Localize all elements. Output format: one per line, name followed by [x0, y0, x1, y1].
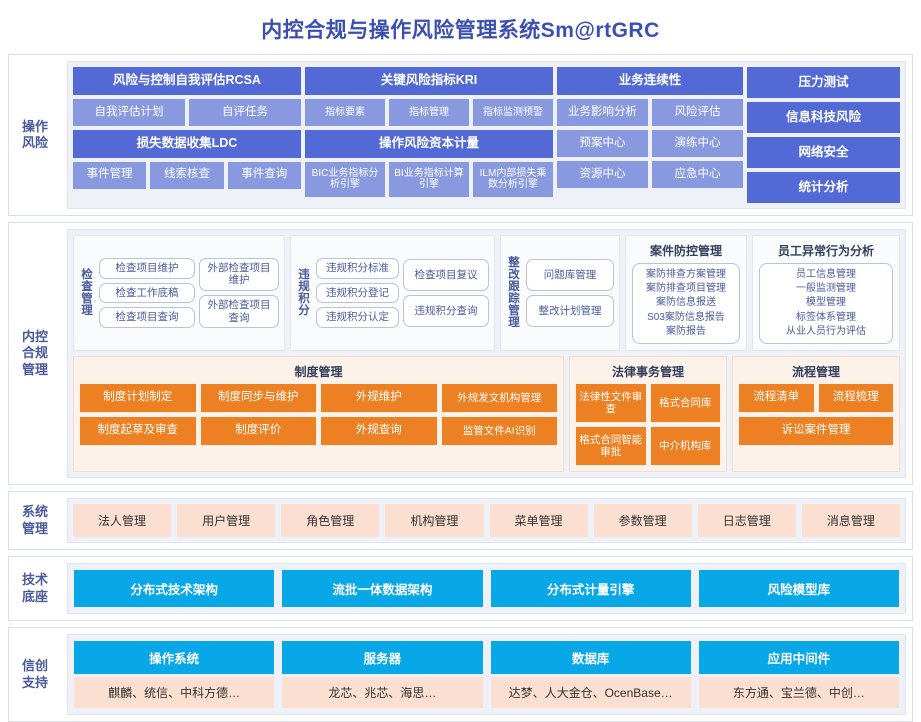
legal-col: 法律性文件审查 格式合同智能审批 — [576, 384, 646, 465]
ops-item[interactable]: 自我评估计划 — [73, 99, 185, 126]
ops-item[interactable]: 指标管理 — [389, 99, 469, 126]
policy-item[interactable]: 外规发文机构管理 — [442, 384, 558, 412]
ic-item[interactable]: 违规积分查询 — [403, 295, 489, 327]
vlabel-rectification: 整改跟踪管理 — [506, 241, 522, 345]
ic-item: 案防信息报送 — [639, 296, 733, 310]
case-prevention-title: 案件防控管理 — [632, 240, 740, 263]
ic-item[interactable]: 整改计划管理 — [526, 295, 614, 327]
ops-item[interactable]: 资源中心 — [557, 161, 648, 188]
legal-item[interactable]: 中介机构库 — [651, 427, 721, 465]
system-item-user[interactable]: 用户管理 — [177, 504, 275, 537]
xinchuang-column-os: 操作系统 麒麟、统信、中科方德… — [74, 641, 274, 708]
xinchuang-column-middleware: 应用中间件 东方通、宝兰德、中创… — [699, 641, 899, 708]
ops-column-kri: 关键风险指标KRI 指标要素 指标管理 指标监测预警 操作风险资本计量 BIC业… — [305, 67, 553, 203]
sys-label-line1: 系统 — [22, 504, 48, 520]
vlabel-inspection: 检查管理 — [79, 241, 95, 345]
band-body-tech-base: 分布式技术架构 流批一体数据架构 分布式计量引擎 风险模型库 — [61, 557, 912, 620]
xinchuang-vendors: 麒麟、统信、中科方德… — [74, 677, 274, 708]
internal-control-top-row: 检查管理 检查项目维护 检查工作底稿 检查项目查询 外部检查项目维护 外部检查项… — [73, 235, 900, 351]
xinchuang-vendors: 东方通、宝兰德、中创… — [699, 677, 899, 708]
block-bcm-header[interactable]: 业务连续性 — [557, 67, 743, 95]
xinchuang-vendors: 达梦、人大金仓、OcenBase… — [491, 677, 691, 708]
ops-column-others: 压力测试 信息科技风险 网络安全 统计分析 — [747, 67, 900, 203]
policy-col: 外规发文机构管理 监管文件AI识别 — [442, 384, 558, 445]
band-label-operational-risk: 操作 风险 — [9, 55, 61, 215]
ops-column-bcm: 业务连续性 业务影响分析 风险评估 预案中心 演练中心 资源中心 应急中心 — [557, 67, 743, 203]
band-operational-risk: 操作 风险 风险与控制自我评估RCSA 自我评估计划 自评任务 损失数据收集LD… — [8, 54, 913, 216]
employee-behavior-list[interactable]: 员工信息管理 一般监测管理 模型管理 标签体系管理 从业人员行为评估 — [759, 263, 893, 344]
ops-item[interactable]: ILM内部损失乘数分析引擎 — [473, 162, 553, 197]
card-employee-behavior: 员工异常行为分析 员工信息管理 一般监测管理 模型管理 标签体系管理 从业人员行… — [752, 235, 900, 351]
legal-affairs-title: 法律事务管理 — [576, 361, 720, 384]
ic-item[interactable]: 违规积分标准 — [316, 258, 399, 279]
ops-item-stress-test[interactable]: 压力测试 — [747, 67, 900, 98]
tech-item-data-architecture[interactable]: 流批一体数据架构 — [282, 570, 482, 607]
process-item[interactable]: 流程梳理 — [819, 384, 894, 412]
ops-item-network-security[interactable]: 网络安全 — [747, 137, 900, 168]
tech-label-line1: 技术 — [22, 572, 48, 588]
xc-label-line2: 支持 — [22, 675, 48, 691]
block-kri-subs: 指标要素 指标管理 指标监测预警 — [305, 99, 553, 126]
policy-col: 制度计划制定 制度起草及审查 — [80, 384, 196, 445]
system-item-organization[interactable]: 机构管理 — [385, 504, 483, 537]
xinchuang-head[interactable]: 应用中间件 — [699, 641, 899, 674]
ops-item-it-risk[interactable]: 信息科技风险 — [747, 102, 900, 133]
card-process-management: 流程管理 流程清单 流程梳理 诉讼案件管理 — [732, 356, 900, 472]
xinchuang-column-database: 数据库 达梦、人大金仓、OcenBase… — [491, 641, 691, 708]
system-item-role[interactable]: 角色管理 — [281, 504, 379, 537]
band-system-management: 系统 管理 法人管理 用户管理 角色管理 机构管理 菜单管理 参数管理 日志管理… — [8, 491, 913, 550]
policy-col: 制度同步与维护 制度评价 — [201, 384, 317, 445]
card-policy-management: 制度管理 制度计划制定 制度起草及审查 制度同步与维护 制度评价 — [73, 356, 564, 472]
process-item[interactable]: 流程清单 — [739, 384, 814, 412]
band-label-tech-base: 技术 底座 — [9, 557, 61, 620]
ic-item: 标签体系管理 — [766, 311, 886, 325]
band-tech-base: 技术 底座 分布式技术架构 流批一体数据架构 分布式计量引擎 风险模型库 — [8, 556, 913, 621]
block-orc-subs: BIC业务指标分析引擎 BI业务指标计算引擎 ILM内部损失乘数分析引擎 — [305, 162, 553, 197]
block-kri-header[interactable]: 关键风险指标KRI — [305, 67, 553, 95]
ic-item: 员工信息管理 — [766, 268, 886, 282]
xinchuang-head[interactable]: 操作系统 — [74, 641, 274, 674]
legal-grid: 法律性文件审查 格式合同智能审批 格式合同库 中介机构库 — [576, 384, 720, 465]
vlabel-violation: 违规积分 — [296, 241, 312, 345]
band-body-system-management: 法人管理 用户管理 角色管理 机构管理 菜单管理 参数管理 日志管理 消息管理 — [61, 492, 912, 549]
ic-item[interactable]: 外部检查项目查询 — [199, 295, 279, 328]
band-xinchuang-support: 信创 支持 操作系统 麒麟、统信、中科方德… 服务器 龙芯、兆芯、海思… 数据库… — [8, 627, 913, 722]
legal-item[interactable]: 格式合同库 — [651, 384, 721, 422]
legal-item[interactable]: 法律性文件审查 — [576, 384, 646, 422]
block-rcsa-subs: 自我评估计划 自评任务 — [73, 99, 301, 126]
ops-item[interactable]: 指标要素 — [305, 99, 385, 126]
policy-grid: 制度计划制定 制度起草及审查 制度同步与维护 制度评价 外规维护 外规查询 — [80, 384, 557, 445]
band-internal-control: 内控 合规 管理 检查管理 检查项目维护 检查工作底稿 检查项目查询 — [8, 222, 913, 485]
ops-column-rcsa: 风险与控制自我评估RCSA 自我评估计划 自评任务 损失数据收集LDC 事件管理… — [73, 67, 301, 203]
system-item-message[interactable]: 消息管理 — [802, 504, 900, 537]
ic-item[interactable]: 违规积分认定 — [316, 307, 399, 328]
ops-item[interactable]: 指标监测预警 — [473, 99, 553, 126]
system-item-legal-entity[interactable]: 法人管理 — [73, 504, 171, 537]
ops-item[interactable]: 业务影响分析 — [557, 99, 648, 126]
process-row-2: 诉讼案件管理 — [739, 417, 893, 445]
policy-item[interactable]: 监管文件AI识别 — [442, 417, 558, 445]
block-bcm-row2: 预案中心 演练中心 — [557, 130, 743, 157]
block-bcm-row1: 业务影响分析 风险评估 — [557, 99, 743, 126]
ops-item[interactable]: 自评任务 — [189, 99, 301, 126]
ops-item[interactable]: 线索核查 — [150, 162, 223, 189]
xinchuang-column-server: 服务器 龙芯、兆芯、海思… — [282, 641, 482, 708]
ic-item[interactable]: 检查项目维护 — [99, 258, 195, 279]
band-label-internal-control: 内控 合规 管理 — [9, 223, 61, 484]
internal-control-bottom-row: 制度管理 制度计划制定 制度起草及审查 制度同步与维护 制度评价 — [73, 356, 900, 472]
block-ldc-subs: 事件管理 线索核查 事件查询 — [73, 162, 301, 189]
ic-item[interactable]: 问题库管理 — [526, 259, 614, 291]
ic-item[interactable]: 违规积分登记 — [316, 283, 399, 304]
tech-label-line2: 底座 — [22, 589, 48, 605]
card-inspection-management: 检查管理 检查项目维护 检查工作底稿 检查项目查询 外部检查项目维护 外部检查项… — [73, 235, 285, 351]
xc-label-line1: 信创 — [22, 658, 48, 674]
sys-label-line2: 管理 — [22, 521, 48, 537]
ops-item[interactable]: BI业务指标计算引擎 — [389, 162, 469, 197]
tech-item-risk-model-library[interactable]: 风险模型库 — [699, 570, 899, 607]
system-item-parameter[interactable]: 参数管理 — [594, 504, 692, 537]
policy-item[interactable]: 制度计划制定 — [80, 384, 196, 412]
policy-management-title: 制度管理 — [80, 361, 557, 384]
ic-item: 从业人员行为评估 — [766, 325, 886, 339]
ops-item[interactable]: 预案中心 — [557, 130, 648, 157]
band-label-system-management: 系统 管理 — [9, 492, 61, 549]
ic-item: 模型管理 — [766, 296, 886, 310]
ic-item: S03案防信息报告 — [639, 311, 733, 325]
ops-item[interactable]: 演练中心 — [652, 130, 743, 157]
legal-item[interactable]: 格式合同智能审批 — [576, 427, 646, 465]
ic-item[interactable]: 外部检查项目维护 — [199, 258, 279, 291]
xinchuang-vendors: 龙芯、兆芯、海思… — [282, 677, 482, 708]
policy-item[interactable]: 制度起草及审查 — [80, 417, 196, 445]
ops-item[interactable]: BIC业务指标分析引擎 — [305, 162, 385, 197]
card-violation-points: 违规积分 违规积分标准 违规积分登记 违规积分认定 检查项目复议 违规积分查询 — [290, 235, 495, 351]
block-ldc-header[interactable]: 损失数据收集LDC — [73, 130, 301, 158]
xinchuang-head[interactable]: 数据库 — [491, 641, 691, 674]
block-rcsa-header[interactable]: 风险与控制自我评估RCSA — [73, 67, 301, 95]
block-bcm-row3: 资源中心 应急中心 — [557, 161, 743, 188]
ops-item[interactable]: 事件查询 — [228, 162, 301, 189]
band-body-xinchuang-support: 操作系统 麒麟、统信、中科方德… 服务器 龙芯、兆芯、海思… 数据库 达梦、人大… — [61, 628, 912, 721]
ic-label-line3: 管理 — [22, 362, 48, 378]
ops-grid: 风险与控制自我评估RCSA 自我评估计划 自评任务 损失数据收集LDC 事件管理… — [73, 67, 900, 203]
card-case-prevention: 案件防控管理 案防排查方案管理 案防排查项目管理 案防信息报送 S03案防信息报… — [625, 235, 747, 351]
policy-col: 外规维护 外规查询 — [321, 384, 437, 445]
internal-control-panel: 检查管理 检查项目维护 检查工作底稿 检查项目查询 外部检查项目维护 外部检查项… — [67, 229, 906, 478]
ic-label-line2: 合规 — [22, 345, 48, 361]
employee-behavior-title: 员工异常行为分析 — [759, 240, 893, 263]
violation-left-col: 违规积分标准 违规积分登记 违规积分认定 — [316, 241, 399, 345]
inspection-left-col: 检查项目维护 检查工作底稿 检查项目查询 — [99, 241, 195, 345]
xinchuang-panel: 操作系统 麒麟、统信、中科方德… 服务器 龙芯、兆芯、海思… 数据库 达梦、人大… — [67, 634, 906, 715]
policy-item[interactable]: 外规维护 — [321, 384, 437, 412]
band-body-internal-control: 检查管理 检查项目维护 检查工作底稿 检查项目查询 外部检查项目维护 外部检查项… — [61, 223, 912, 484]
system-item-log[interactable]: 日志管理 — [698, 504, 796, 537]
block-orc-header[interactable]: 操作风险资本计量 — [305, 130, 553, 158]
ic-item: 案防报告 — [639, 325, 733, 339]
process-item[interactable]: 诉讼案件管理 — [739, 417, 893, 445]
card-legal-affairs: 法律事务管理 法律性文件审查 格式合同智能审批 格式合同库 中介机构库 — [569, 356, 727, 472]
system-item-menu[interactable]: 菜单管理 — [490, 504, 588, 537]
architecture-diagram: 内控合规与操作风险管理系统Sm@rtGRC 操作 风险 风险与控制自我评估RCS… — [0, 0, 921, 640]
band-label-xinchuang-support: 信创 支持 — [9, 628, 61, 721]
ic-item: 案防排查项目管理 — [639, 282, 733, 296]
process-grid: 流程清单 流程梳理 诉讼案件管理 — [739, 384, 893, 445]
case-prevention-list[interactable]: 案防排查方案管理 案防排查项目管理 案防信息报送 S03案防信息报告 案防报告 — [632, 263, 740, 344]
card-rectification-tracking: 整改跟踪管理 问题库管理 整改计划管理 — [500, 235, 620, 351]
ops-label-line2: 风险 — [22, 135, 48, 151]
ops-label-line1: 操作 — [22, 119, 48, 135]
legal-col: 格式合同库 中介机构库 — [651, 384, 721, 465]
band-body-operational-risk: 风险与控制自我评估RCSA 自我评估计划 自评任务 损失数据收集LDC 事件管理… — [61, 55, 912, 215]
process-management-title: 流程管理 — [739, 361, 893, 384]
ic-item: 一般监测管理 — [766, 282, 886, 296]
ic-item: 案防排查方案管理 — [639, 268, 733, 282]
policy-item[interactable]: 制度评价 — [201, 417, 317, 445]
ic-label-line1: 内控 — [22, 329, 48, 345]
ops-panel: 风险与控制自我评估RCSA 自我评估计划 自评任务 损失数据收集LDC 事件管理… — [67, 61, 906, 209]
ic-item[interactable]: 检查项目查询 — [99, 307, 195, 328]
inspection-right-col: 外部检查项目维护 外部检查项目查询 — [199, 241, 279, 345]
ops-item[interactable]: 事件管理 — [73, 162, 146, 189]
page-title: 内控合规与操作风险管理系统Sm@rtGRC — [0, 0, 921, 54]
ic-item[interactable]: 检查工作底稿 — [99, 283, 195, 304]
tech-item-measurement-engine[interactable]: 分布式计量引擎 — [491, 570, 691, 607]
rectification-col: 问题库管理 整改计划管理 — [526, 241, 614, 345]
ops-item[interactable]: 风险评估 — [652, 99, 743, 126]
ops-item-statistics[interactable]: 统计分析 — [747, 172, 900, 203]
violation-right-col: 检查项目复议 违规积分查询 — [403, 241, 489, 345]
tech-base-panel: 分布式技术架构 流批一体数据架构 分布式计量引擎 风险模型库 — [67, 563, 906, 614]
policy-item[interactable]: 外规查询 — [321, 417, 437, 445]
xinchuang-head[interactable]: 服务器 — [282, 641, 482, 674]
process-row-1: 流程清单 流程梳理 — [739, 384, 893, 412]
ic-item[interactable]: 检查项目复议 — [403, 259, 489, 291]
policy-item[interactable]: 制度同步与维护 — [201, 384, 317, 412]
system-management-panel: 法人管理 用户管理 角色管理 机构管理 菜单管理 参数管理 日志管理 消息管理 — [67, 498, 906, 543]
ops-item[interactable]: 应急中心 — [652, 161, 743, 188]
tech-item-distributed-architecture[interactable]: 分布式技术架构 — [74, 570, 274, 607]
